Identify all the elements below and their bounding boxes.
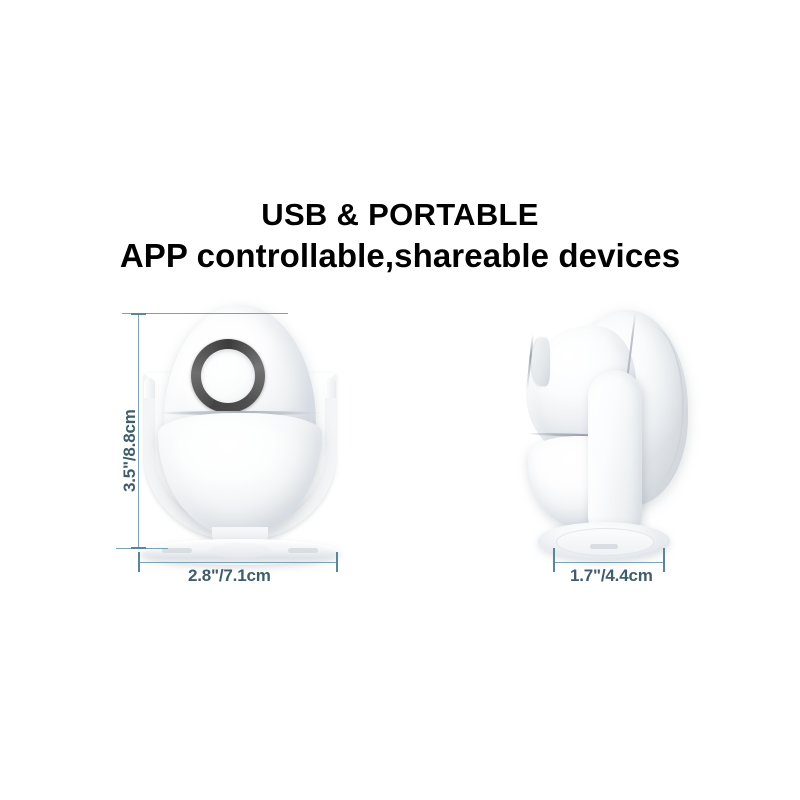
indicator-ring-icon [191,339,265,413]
dimension-label-depth: 1.7"/4.4cm [570,566,653,586]
dimension-tick-left [138,552,140,572]
dimension-tick-bottom [131,547,146,549]
dimension-tick-right [336,552,338,572]
base-plate-side [538,522,670,560]
indicator-ring-edge-side [532,338,550,386]
dimension-line-horizontal [553,562,665,563]
product-title-line-2: APP controllable,shareable devices [0,236,800,276]
dimension-line-horizontal [138,562,338,563]
device-front-view [140,305,340,560]
base-screw-slot [288,548,318,553]
dimension-tick-right [663,548,665,572]
base-screw-slot [590,544,618,549]
dimension-tick-top [131,313,146,315]
indicator-ring-inner [201,349,255,403]
heading-block: USB & PORTABLE APP controllable,shareabl… [0,196,800,276]
device-side-view [512,308,692,560]
dimension-tick-left [553,548,555,572]
dimension-label-width: 2.8"/7.1cm [188,566,271,586]
product-image-canvas: USB & PORTABLE APP controllable,shareabl… [0,0,800,800]
base-inner-ring [556,528,654,556]
extension-line-top [122,313,288,314]
product-title-line-1: USB & PORTABLE [0,196,800,234]
base-hub [208,543,272,558]
mounting-bracket-arm-side [588,370,642,538]
dimension-label-height: 3.5"/8.8cm [120,409,140,492]
